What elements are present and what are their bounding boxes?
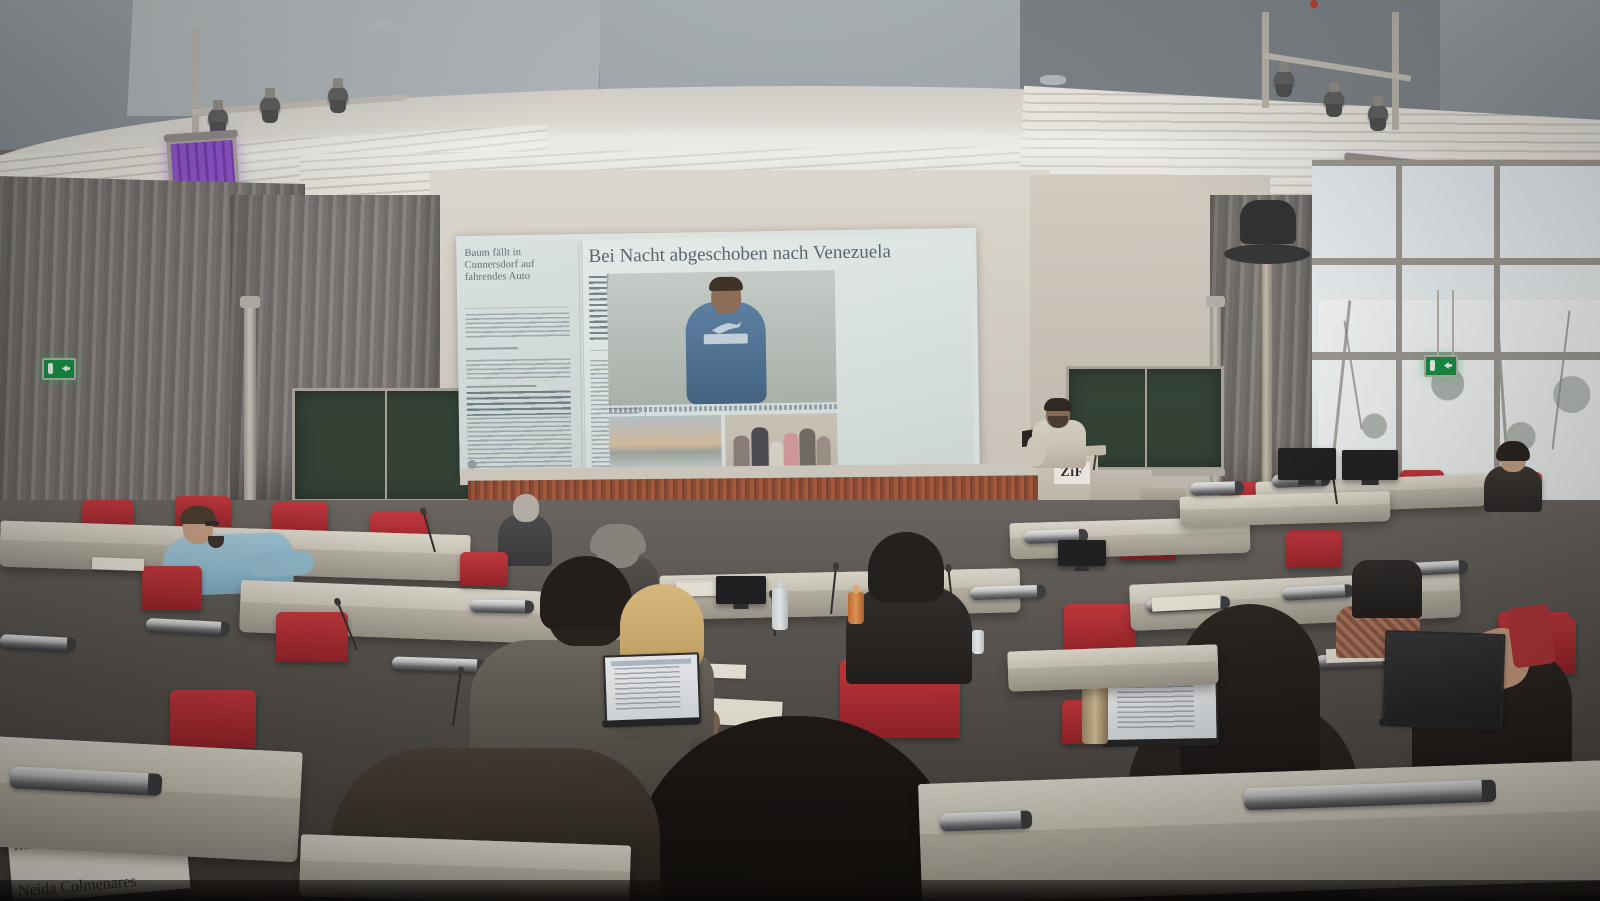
monitor[interactable] [1342,450,1398,480]
chair[interactable] [142,566,202,610]
av-light-dish [1224,244,1310,264]
exit-sign-cable [1437,290,1439,356]
exit-sign-right [1424,355,1458,377]
projection-screen[interactable]: Baum fällt in Cunnersdorf auf fahrendes … [456,228,980,476]
glasses-icon [205,521,219,526]
jacket-on-chair [1352,560,1422,618]
desk-row-front-left [0,736,303,863]
smoke-detector-icon [370,20,396,30]
wall-post-left [244,300,256,520]
red-phone[interactable] [1506,603,1556,668]
desk-lamp [940,810,1031,831]
lecture-hall-photo: Baum fällt in Cunnersdorf auf fahrendes … [0,0,1600,901]
monitor[interactable] [716,576,766,604]
hair [590,524,646,554]
exit-sign-cable [1452,290,1454,356]
ceiling-sensor-icon [1310,0,1318,8]
chair[interactable] [1286,530,1342,568]
water-bottle[interactable] [848,592,864,624]
desk-row [1180,491,1391,527]
spotlight-icon [208,108,228,128]
water-bottle[interactable] [772,588,788,630]
chair[interactable] [276,612,348,662]
ceiling-panel-center [600,0,1030,96]
av-speaker-fixture [1240,200,1296,244]
chair[interactable] [170,690,256,748]
speaker-cap [1044,398,1072,411]
foreground-shadow [0,880,1600,901]
chalkboard-left [292,388,478,502]
desk-lamp [970,585,1044,601]
paper-sheet [92,557,144,571]
smoke-detector-icon [1040,75,1066,85]
spotlight-icon [1274,70,1294,90]
hair [868,532,944,602]
chair[interactable] [1064,604,1136,654]
spotlight-icon [260,96,280,116]
spotlight-icon [328,86,348,106]
desk-lamp [470,599,532,613]
wall-post-cap [240,296,260,308]
laptop[interactable] [603,652,697,721]
projected-slide: Baum fällt in Cunnersdorf auf fahrendes … [456,228,980,476]
chair[interactable] [460,552,508,586]
arm [247,550,315,579]
exit-sign-left [42,358,76,380]
slide-photo-group-of-people [725,413,838,470]
slide-left-headline: Baum fällt in Cunnersdorf auf fahrendes … [464,246,570,284]
wall-post-cap [1206,296,1225,307]
slide-bullet-icon [468,460,477,469]
desk-lamp [1190,481,1242,496]
laptop[interactable] [1382,630,1501,724]
monitor[interactable] [1058,540,1106,566]
drinking-glass[interactable] [972,630,984,654]
spotlight-icon [1324,90,1344,110]
spotlight-icon [1368,104,1388,124]
monitor[interactable] [1278,448,1336,480]
light-rig-right [1250,12,1430,152]
slide-photo-portrait [607,270,837,406]
desk-row [1007,644,1218,691]
hair [1496,441,1530,461]
slide-photo-aerial-sunset [609,415,722,472]
